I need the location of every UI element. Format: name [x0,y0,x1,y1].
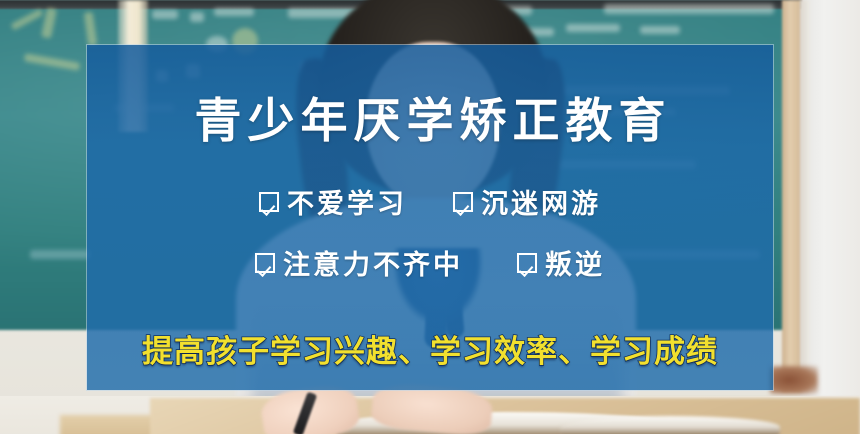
tagline: 提高孩子学习兴趣、学习效率、学习成绩 [142,326,718,371]
checklist-item-game-addiction: 沉迷网游 [453,182,601,221]
checklist-item-label: 不爱学习 [287,182,407,221]
page-title: 青少年厌学矫正教育 [189,97,672,144]
checked-checkbox-icon [453,192,473,212]
checklist-item-label: 沉迷网游 [481,182,601,221]
checklist-item-attention: 注意力不齐中 [255,243,463,282]
checklist-item-label: 注意力不齐中 [283,243,463,282]
chalkboard-wood-frame [782,0,802,392]
chalk-mark [152,10,178,19]
banner-image: 青少年厌学矫正教育 不爱学习 沉迷网游 注意力不齐中 [0,0,860,434]
chalk-mark [604,4,774,14]
chalkboard-foot [770,366,818,394]
chalk-mark [640,26,680,34]
chalk-mark [214,8,254,16]
checklist-item-dislike-study: 不爱学习 [259,182,407,221]
chalk-mark [566,24,620,32]
chalk-mark [30,250,90,259]
checked-checkbox-icon [255,253,275,273]
blue-overlay-panel: 青少年厌学矫正教育 不爱学习 沉迷网游 注意力不齐中 [87,45,773,390]
checklist-row-2: 注意力不齐中 叛逆 [255,243,605,282]
checked-checkbox-icon [259,192,279,212]
chalkboard-frame-edge [800,0,810,392]
second-book [560,416,780,434]
checked-checkbox-icon [517,253,537,273]
checklist-item-label: 叛逆 [545,243,605,282]
chalk-mark [190,12,204,22]
checklist-item-rebellious: 叛逆 [517,243,605,282]
checklist-row-1: 不爱学习 沉迷网游 [259,182,601,221]
